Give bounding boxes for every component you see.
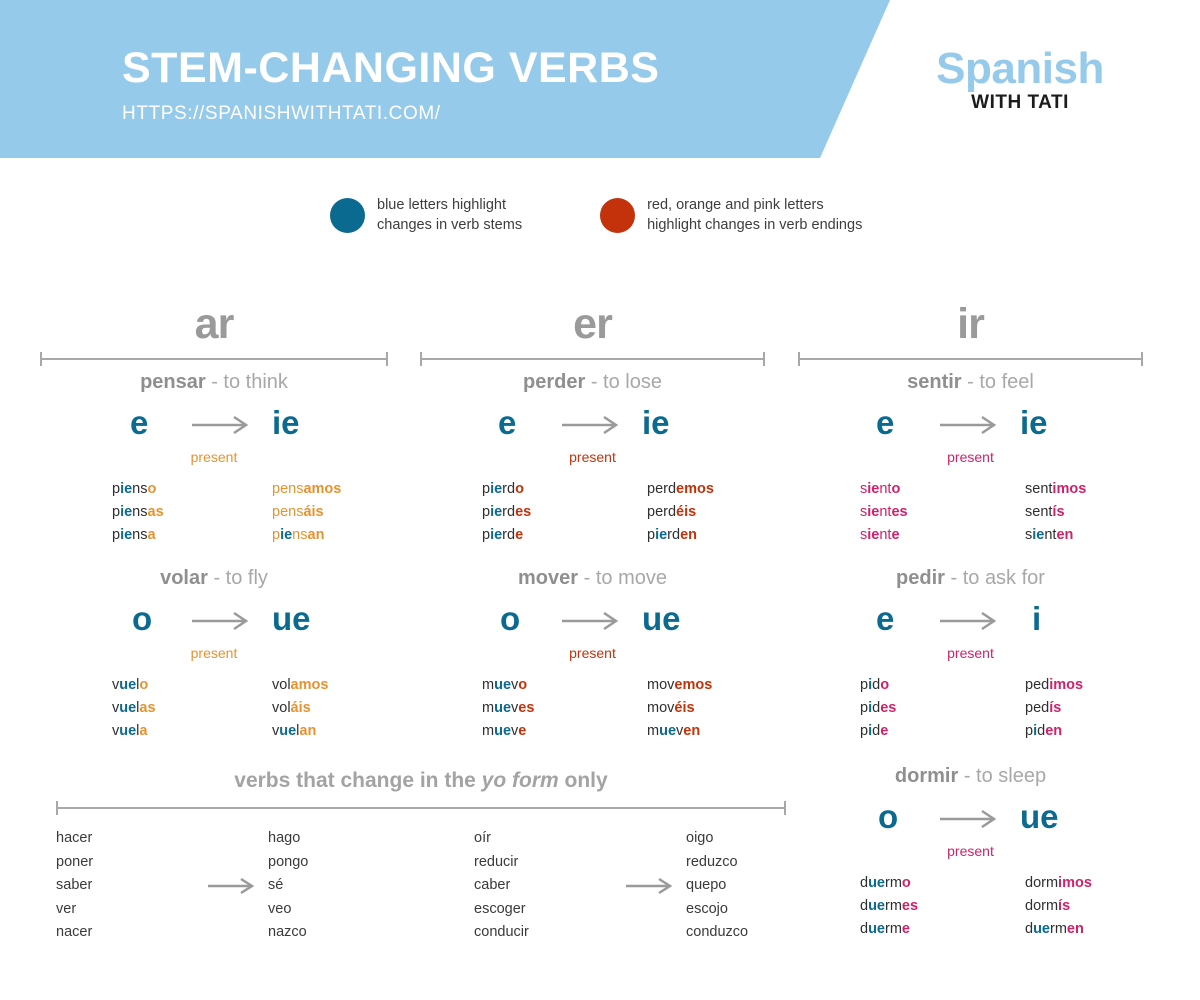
legend-text-blue: blue letters highlight changes in verb s…: [377, 196, 522, 235]
verb-title-pensar: pensar - to think: [40, 372, 388, 392]
list-item: quepo: [686, 874, 826, 898]
brand-logo: Spanish WITH TATI: [900, 47, 1140, 114]
stem-change-volar: o ue: [40, 600, 388, 644]
conjugation-el: pide: [860, 720, 1025, 743]
conjugation-plural: movemos movéis mueven: [647, 674, 712, 743]
page-header: STEM-CHANGING VERBS HTTPS://SPANISHWITHT…: [0, 0, 1200, 158]
stem-from: o: [132, 602, 152, 635]
yo-form-title: verbs that change in the yo form only: [56, 770, 786, 791]
legend-line-1: blue letters highlight: [377, 196, 522, 216]
conjugation-nosotros: pensamos: [272, 478, 341, 501]
verb-infinitive: perder: [523, 371, 585, 393]
arrow-icon: [938, 414, 1000, 436]
tense-label-pedir: present: [798, 646, 1143, 660]
conjugation-nosotros: perdemos: [647, 478, 714, 501]
yo-form-bracket: [56, 801, 786, 815]
page-title: STEM-CHANGING VERBS: [122, 44, 659, 93]
stem-from: o: [878, 800, 898, 833]
arrow-icon: [938, 808, 1000, 830]
conjugation-singular: pierdo pierdes pierde: [420, 478, 647, 547]
stem-to: ue: [642, 602, 681, 635]
list-item: reducir: [474, 851, 614, 875]
legend-line-1: red, orange and pink letters: [647, 196, 862, 216]
arrow-icon: [190, 414, 252, 436]
conjugation-vosotros: movéis: [647, 697, 712, 720]
conjugation-dormir: duermo duermes duerme dormimos dormís du…: [798, 872, 1143, 941]
yo-form-group-1: hacer poner saber ver nacer hago pongo s…: [56, 827, 408, 945]
list-item: reduzco: [686, 851, 826, 875]
verb-translation: - to ask for: [950, 567, 1044, 589]
stem-to: ue: [272, 602, 311, 635]
conjugation-el: pierde: [482, 524, 647, 547]
stem-to: ue: [1020, 800, 1059, 833]
column-bracket-ar: [40, 352, 388, 366]
arrow-icon: [190, 610, 252, 632]
column-letters-ar: ar: [40, 303, 388, 346]
list-item: oigo: [686, 827, 826, 851]
list-item: veo: [268, 898, 408, 922]
list-item: poner: [56, 851, 196, 875]
verb-infinitive: dormir: [895, 765, 958, 787]
stem-from: o: [500, 602, 520, 635]
arrow-icon: [938, 610, 1000, 632]
verb-translation: - to sleep: [964, 765, 1046, 787]
conjugation-yo: siento: [860, 478, 1025, 501]
yo-title-pre: verbs that change in the: [234, 769, 481, 792]
list-item: caber: [474, 874, 614, 898]
verb-infinitive: mover: [518, 567, 578, 589]
conjugation-perder: pierdo pierdes pierde perdemos perdéis p…: [420, 478, 765, 547]
list-item: escojo: [686, 898, 826, 922]
conjugation-tu: pides: [860, 697, 1025, 720]
arrow-icon: [614, 876, 686, 896]
verb-block-pensar: pensar - to think e ie present pienso pi…: [40, 372, 388, 547]
verb-title-perder: perder - to lose: [420, 372, 765, 392]
header-website-url: HTTPS://SPANISHWITHTATI.COM/: [122, 103, 441, 125]
arrow-icon: [560, 414, 622, 436]
color-legend: blue letters highlight changes in verb s…: [330, 196, 862, 235]
stem-from: e: [876, 602, 894, 635]
conjugation-tu: sientes: [860, 501, 1025, 524]
list-item: hacer: [56, 827, 196, 851]
conjugation-yo: pienso: [112, 478, 272, 501]
stem-to: ie: [642, 406, 670, 439]
red-dot-icon: [600, 198, 635, 233]
verb-translation: - to lose: [591, 371, 662, 393]
legend-item-red: red, orange and pink letters highlight c…: [600, 196, 862, 235]
conjugation-pedir: pido pides pide pedimos pedís piden: [798, 674, 1143, 743]
legend-item-blue: blue letters highlight changes in verb s…: [330, 196, 522, 235]
conjugation-tu: mueves: [482, 697, 647, 720]
conjugation-ellos: pierden: [647, 524, 714, 547]
conjugation-plural: sentimos sentís sienten: [1025, 478, 1086, 547]
yo-form-lists: hacer poner saber ver nacer hago pongo s…: [56, 827, 786, 945]
stem-change-pensar: e ie: [40, 404, 388, 448]
conjugation-tu: pierdes: [482, 501, 647, 524]
list-item: saber: [56, 874, 196, 898]
yo-form-section: verbs that change in the yo form only ha…: [56, 770, 786, 945]
verb-infinitive: pedir: [896, 567, 945, 589]
yo-form-group-2: oír reducir caber escoger conducir oigo …: [474, 827, 826, 945]
list-item: escoger: [474, 898, 614, 922]
conjugation-plural: volamos voláis vuelan: [272, 674, 328, 743]
arrow-icon: [560, 610, 622, 632]
tense-label-perder: present: [420, 450, 765, 464]
stem-change-sentir: e ie: [798, 404, 1143, 448]
blue-dot-icon: [330, 198, 365, 233]
conjugation-nosotros: pedimos: [1025, 674, 1083, 697]
column-bracket-er: [420, 352, 765, 366]
list-item: nazco: [268, 921, 408, 945]
conjugation-singular: pienso piensas piensa: [40, 478, 272, 547]
column-letters-er: er: [420, 303, 765, 346]
verb-translation: - to fly: [213, 567, 267, 589]
verb-infinitive: pensar: [140, 371, 206, 393]
brand-logo-main: Spanish: [900, 47, 1140, 91]
conjugation-ellos: piensan: [272, 524, 341, 547]
conjugation-plural: pensamos pensáis piensan: [272, 478, 341, 547]
stem-change-dormir: o ue: [798, 798, 1143, 842]
conjugation-tu: piensas: [112, 501, 272, 524]
verb-translation: - to feel: [967, 371, 1034, 393]
column-heading-ir: ir: [798, 303, 1143, 346]
list-item: pongo: [268, 851, 408, 875]
conjugation-nosotros: movemos: [647, 674, 712, 697]
conjugation-vosotros: pensáis: [272, 501, 341, 524]
conjugation-nosotros: sentimos: [1025, 478, 1086, 501]
conjugation-tu: vuelas: [112, 697, 272, 720]
conjugation-vosotros: sentís: [1025, 501, 1086, 524]
stem-from: e: [130, 406, 148, 439]
yo-title-emphasis: yo form: [482, 769, 559, 792]
conjugation-yo: muevo: [482, 674, 647, 697]
stem-to: ie: [1020, 406, 1048, 439]
yo-infinitive-column-1: hacer poner saber ver nacer: [56, 827, 196, 945]
verb-title-pedir: pedir - to ask for: [798, 568, 1143, 588]
list-item: ver: [56, 898, 196, 922]
conjugation-singular: siento sientes siente: [798, 478, 1025, 547]
verb-translation: - to think: [211, 371, 288, 393]
verb-infinitive: sentir: [907, 371, 961, 393]
verb-title-volar: volar - to fly: [40, 568, 388, 588]
brand-logo-sub: WITH TATI: [900, 92, 1140, 114]
list-item: conducir: [474, 921, 614, 945]
tense-label-dormir: present: [798, 844, 1143, 858]
conjugation-ellos: sienten: [1025, 524, 1086, 547]
verb-infinitive: volar: [160, 567, 208, 589]
stem-change-perder: e ie: [420, 404, 765, 448]
verb-block-dormir: dormir - to sleep o ue present duermo du…: [798, 766, 1143, 941]
conjugation-tu: duermes: [860, 895, 1025, 918]
conjugation-pensar: pienso piensas piensa pensamos pensáis p…: [40, 478, 388, 547]
stem-change-mover: o ue: [420, 600, 765, 644]
verb-block-volar: volar - to fly o ue present vuelo vuelas…: [40, 568, 388, 743]
arrow-icon: [196, 876, 268, 896]
conjugation-sentir: siento sientes siente sentimos sentís si…: [798, 478, 1143, 547]
conjugation-nosotros: dormimos: [1025, 872, 1092, 895]
conjugation-el: mueve: [482, 720, 647, 743]
column-bracket-ir: [798, 352, 1143, 366]
conjugation-yo: vuelo: [112, 674, 272, 697]
column-heading-ar: ar: [40, 303, 388, 346]
column-heading-er: er: [420, 303, 765, 346]
tense-label-volar: present: [40, 646, 388, 660]
legend-line-2: highlight changes in verb endings: [647, 216, 862, 236]
conjugation-yo: pido: [860, 674, 1025, 697]
stem-to: ie: [272, 406, 300, 439]
conjugation-yo: duermo: [860, 872, 1025, 895]
conjugation-ellos: duermen: [1025, 918, 1092, 941]
column-letters-ir: ir: [798, 303, 1143, 346]
legend-line-2: changes in verb stems: [377, 216, 522, 236]
conjugation-vosotros: perdéis: [647, 501, 714, 524]
conjugation-plural: pedimos pedís piden: [1025, 674, 1083, 743]
conjugation-el: vuela: [112, 720, 272, 743]
stem-to: i: [1032, 602, 1041, 635]
stem-change-pedir: e i: [798, 600, 1143, 644]
conjugation-yo: pierdo: [482, 478, 647, 501]
conjugation-mover: muevo mueves mueve movemos movéis mueven: [420, 674, 765, 743]
yo-infinitive-column-2: oír reducir caber escoger conducir: [474, 827, 614, 945]
conjugation-ellos: vuelan: [272, 720, 328, 743]
verb-title-sentir: sentir - to feel: [798, 372, 1143, 392]
list-item: oír: [474, 827, 614, 851]
yo-form-column-2: oigo reduzco quepo escojo conduzco: [686, 827, 826, 945]
conjugation-plural: perdemos perdéis pierden: [647, 478, 714, 547]
conjugation-vosotros: voláis: [272, 697, 328, 720]
conjugation-ellos: piden: [1025, 720, 1083, 743]
conjugation-el: duerme: [860, 918, 1025, 941]
conjugation-vosotros: pedís: [1025, 697, 1083, 720]
verb-block-sentir: sentir - to feel e ie present siento sie…: [798, 372, 1143, 547]
yo-form-column-1: hago pongo sé veo nazco: [268, 827, 408, 945]
conjugation-vosotros: dormís: [1025, 895, 1092, 918]
tense-label-pensar: present: [40, 450, 388, 464]
tense-label-sentir: present: [798, 450, 1143, 464]
conjugation-nosotros: volamos: [272, 674, 328, 697]
list-item: conduzco: [686, 921, 826, 945]
conjugation-plural: dormimos dormís duermen: [1025, 872, 1092, 941]
tense-label-mover: present: [420, 646, 765, 660]
conjugation-volar: vuelo vuelas vuela volamos voláis vuelan: [40, 674, 388, 743]
list-item: sé: [268, 874, 408, 898]
verb-title-dormir: dormir - to sleep: [798, 766, 1143, 786]
legend-text-red: red, orange and pink letters highlight c…: [647, 196, 862, 235]
conjugation-singular: vuelo vuelas vuela: [40, 674, 272, 743]
yo-title-post: only: [559, 769, 608, 792]
conjugation-singular: duermo duermes duerme: [798, 872, 1025, 941]
stem-from: e: [498, 406, 516, 439]
verb-block-pedir: pedir - to ask for e i present pido pide…: [798, 568, 1143, 743]
verb-block-mover: mover - to move o ue present muevo mueve…: [420, 568, 765, 743]
list-item: hago: [268, 827, 408, 851]
conjugation-el: siente: [860, 524, 1025, 547]
conjugation-ellos: mueven: [647, 720, 712, 743]
verb-translation: - to move: [584, 567, 667, 589]
conjugation-singular: pido pides pide: [798, 674, 1025, 743]
verb-title-mover: mover - to move: [420, 568, 765, 588]
conjugation-singular: muevo mueves mueve: [420, 674, 647, 743]
stem-from: e: [876, 406, 894, 439]
verb-block-perder: perder - to lose e ie present pierdo pie…: [420, 372, 765, 547]
list-item: nacer: [56, 921, 196, 945]
conjugation-el: piensa: [112, 524, 272, 547]
